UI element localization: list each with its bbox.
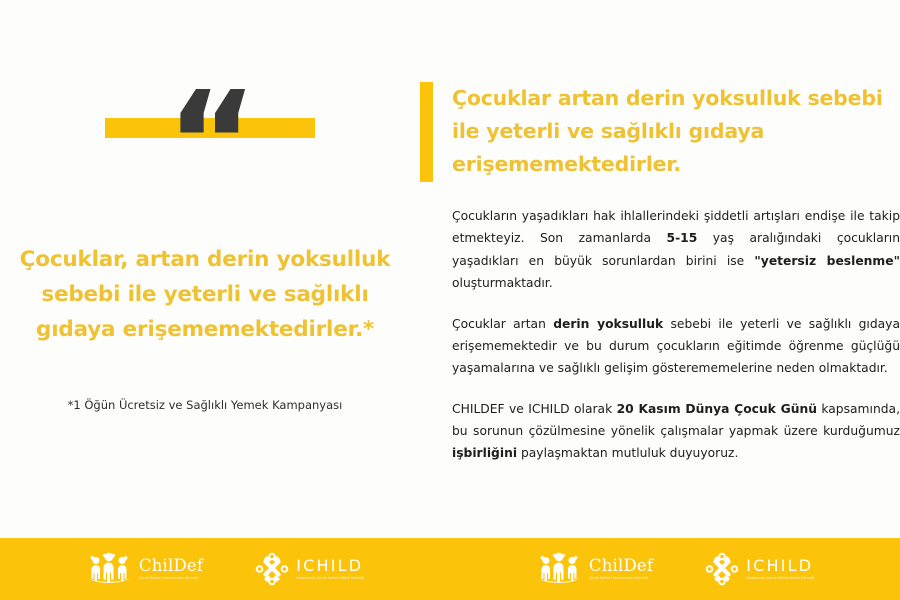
logo-ichild-subtitle: Uluslararası Çocuk Hakları Dijital Derne… (746, 577, 814, 580)
logo-childef-text: ChilDef Çocuk Hakları Savunucuları Derne… (589, 558, 653, 580)
logo-ichild: ICHILD Uluslararası Çocuk Hakları Dijita… (705, 552, 814, 586)
headline-accent-bar (420, 82, 433, 182)
content-area: “ Çocuklar, artan derin yoksulluk sebebi… (0, 0, 900, 538)
footer-logo-group-left: ChilDef Çocuk Hakları Savunucuları Derne… (0, 538, 450, 600)
pullquote-footnote: *1 Öğün Ücretsiz ve Sağlıklı Yemek Kampa… (18, 397, 392, 413)
logo-ichild-text: ICHILD Uluslararası Çocuk Hakları Dijita… (296, 558, 364, 580)
article-body: Çocukların yaşadıkları hak ihlallerindek… (452, 205, 900, 465)
children-arc-icon (86, 552, 132, 586)
quote-mark-group: “ (105, 118, 315, 198)
logo-ichild: ICHILD Uluslararası Çocuk Hakları Dijita… (255, 552, 364, 586)
quotation-mark-icon: “ (105, 74, 315, 214)
logo-ichild-name: ICHILD (746, 558, 814, 574)
article-paragraph: CHILDEF ve ICHILD olarak 20 Kasım Dünya … (452, 398, 900, 465)
logo-childef-text: ChilDef Çocuk Hakları Savunucuları Derne… (139, 558, 203, 580)
article-paragraph: Çocuklar artan derin yoksulluk sebebi il… (452, 313, 900, 380)
headline-block: Çocuklar artan derin yoksulluk sebebi il… (420, 82, 900, 182)
article-column: Çocuklar artan derin yoksulluk sebebi il… (410, 0, 900, 538)
pullquote-text: Çocuklar, artan derin yoksulluk sebebi i… (18, 243, 392, 347)
logo-ichild-text: ICHILD Uluslararası Çocuk Hakları Dijita… (746, 558, 814, 580)
footer-logo-group-right: ChilDef Çocuk Hakları Savunucuları Derne… (450, 538, 900, 600)
logo-ichild-name: ICHILD (296, 558, 364, 574)
ichild-emblem-icon (255, 552, 289, 586)
article-headline: Çocuklar artan derin yoksulluk sebebi il… (452, 82, 884, 182)
article-paragraph: Çocukların yaşadıkları hak ihlallerindek… (452, 205, 900, 295)
logo-childef: ChilDef Çocuk Hakları Savunucuları Derne… (536, 552, 653, 586)
pullquote-column: “ Çocuklar, artan derin yoksulluk sebebi… (0, 0, 410, 538)
logo-childef-name: ChilDef (589, 558, 653, 575)
logo-childef: ChilDef Çocuk Hakları Savunucuları Derne… (86, 552, 203, 586)
ichild-emblem-icon (705, 552, 739, 586)
children-arc-icon (536, 552, 582, 586)
logo-childef-subtitle: Çocuk Hakları Savunucuları Derneği (589, 577, 653, 580)
logo-childef-name: ChilDef (139, 558, 203, 575)
logo-childef-subtitle: Çocuk Hakları Savunucuları Derneği (139, 577, 203, 580)
footer-band: ChilDef Çocuk Hakları Savunucuları Derne… (0, 538, 900, 600)
logo-ichild-subtitle: Uluslararası Çocuk Hakları Dijital Derne… (296, 577, 364, 580)
footer-logo-row: ChilDef Çocuk Hakları Savunucuları Derne… (0, 538, 900, 600)
poster-page: “ Çocuklar, artan derin yoksulluk sebebi… (0, 0, 900, 600)
